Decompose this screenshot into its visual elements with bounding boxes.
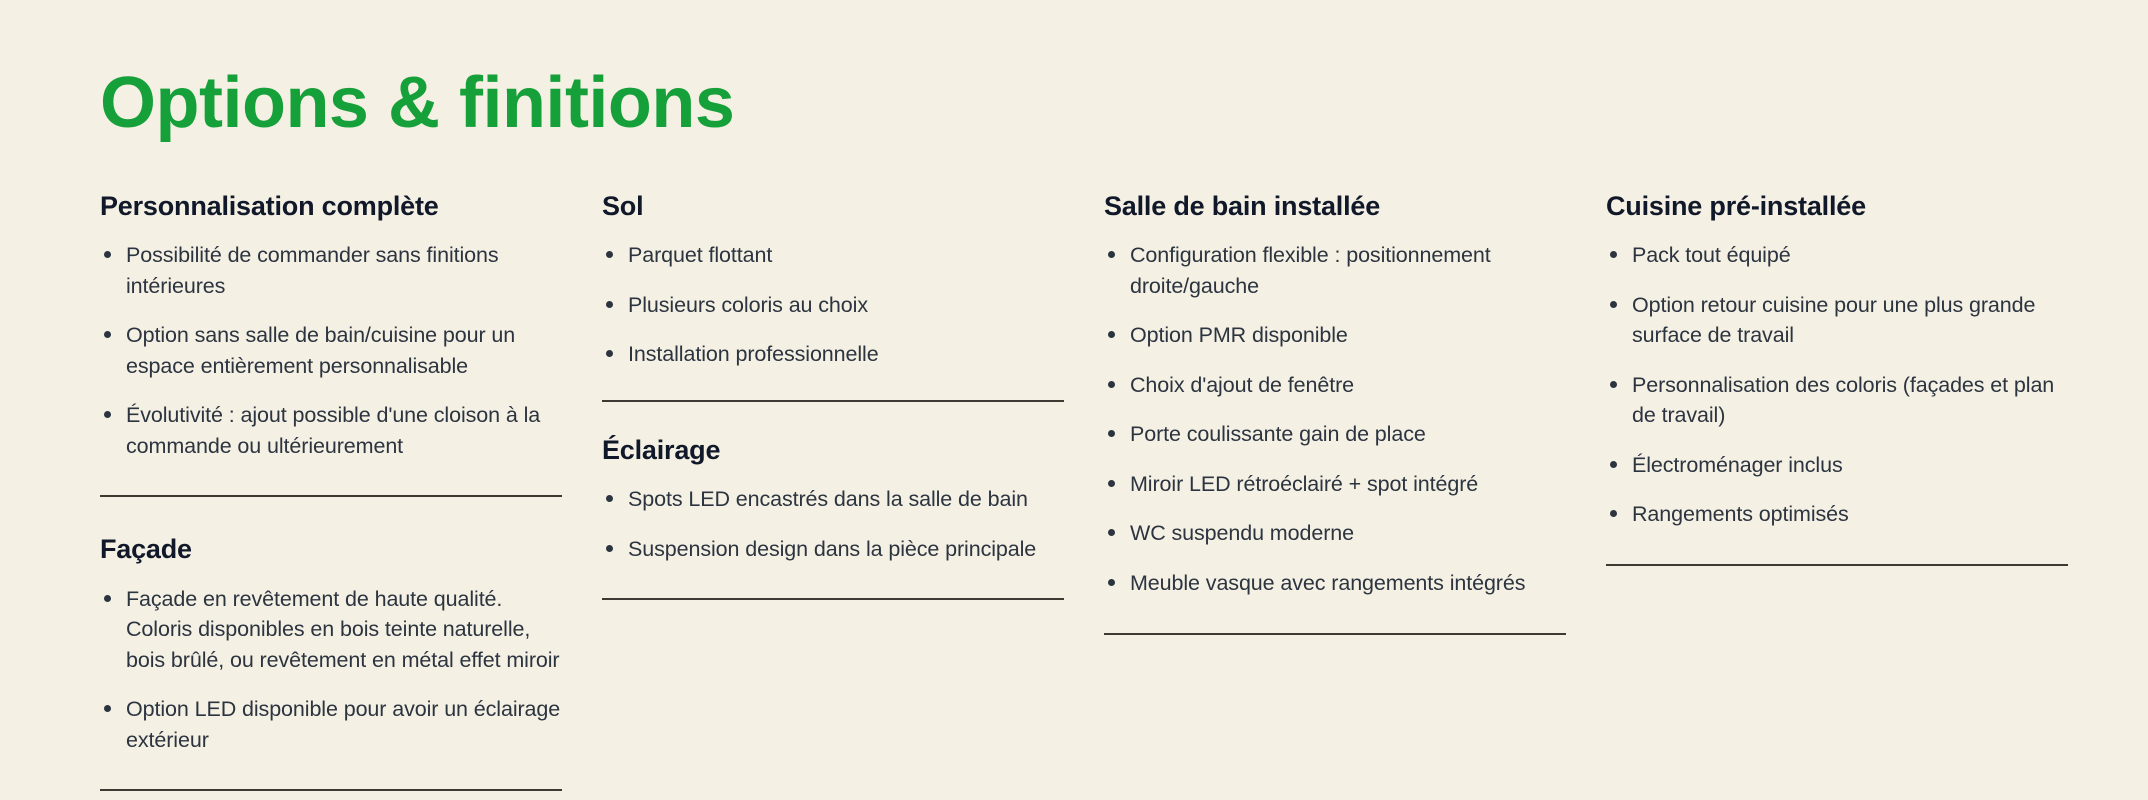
list-item: Choix d'ajout de fenêtre <box>1104 370 1566 401</box>
options-finitions-page: Options & finitions Personnalisation com… <box>0 0 2148 800</box>
bullet-dot-icon <box>1610 510 1617 517</box>
bullet-dot-icon <box>1108 430 1115 437</box>
list-item-label: Option LED disponible pour avoir un écla… <box>126 697 560 752</box>
bullet-dot-icon <box>606 251 613 258</box>
bullet-dot-icon <box>1108 381 1115 388</box>
list-item-label: Spots LED encastrés dans la salle de bai… <box>628 487 1028 511</box>
section-title-eclairage: Éclairage <box>602 434 1064 466</box>
list-item: Façade en revêtement de haute qualité. C… <box>100 584 562 676</box>
list-item-label: Façade en revêtement de haute qualité. C… <box>126 587 559 672</box>
list-item: Évolutivité : ajout possible d'une clois… <box>100 400 562 461</box>
page-title: Options & finitions <box>100 66 734 142</box>
list-item: Configuration flexible : positionnement … <box>1104 240 1566 301</box>
bullet-dot-icon <box>1610 251 1617 258</box>
bullet-dot-icon <box>606 545 613 552</box>
list-item: Porte coulissante gain de place <box>1104 419 1566 450</box>
list-item: Plusieurs coloris au choix <box>602 290 1064 321</box>
section-cuisine-pre-installee: Cuisine pré-installée Pack tout équipé O… <box>1606 190 2068 566</box>
list-item-label: Possibilité de commander sans finitions … <box>126 243 499 298</box>
list-item: Option LED disponible pour avoir un écla… <box>100 694 562 755</box>
bullet-dot-icon <box>1108 579 1115 586</box>
section-title-personnalisation-complete: Personnalisation complète <box>100 190 562 222</box>
list-item-label: Meuble vasque avec rangements intégrés <box>1130 571 1525 595</box>
bullet-list-facade: Façade en revêtement de haute qualité. C… <box>100 584 562 756</box>
list-item-label: Pack tout équipé <box>1632 243 1791 267</box>
section-personnalisation-complete: Personnalisation complète Possibilité de… <box>100 190 562 497</box>
list-item-label: Électroménager inclus <box>1632 453 1843 477</box>
section-divider <box>100 495 562 497</box>
column-sol-eclairage: Sol Parquet flottant Plusieurs coloris a… <box>602 190 1064 600</box>
bullet-dot-icon <box>104 411 111 418</box>
list-item: Miroir LED rétroéclairé + spot intégré <box>1104 469 1566 500</box>
column-cuisine: Cuisine pré-installée Pack tout équipé O… <box>1606 190 2068 566</box>
section-title-cuisine-pre-installee: Cuisine pré-installée <box>1606 190 2068 222</box>
bullet-list-salle-de-bain: Configuration flexible : positionnement … <box>1104 240 1566 598</box>
bullet-dot-icon <box>104 331 111 338</box>
bullet-dot-icon <box>606 495 613 502</box>
list-item: Possibilité de commander sans finitions … <box>100 240 562 301</box>
section-title-salle-de-bain-installee: Salle de bain installée <box>1104 190 1566 222</box>
list-item-label: Suspension design dans la pièce principa… <box>628 537 1036 561</box>
section-divider <box>1104 633 1566 635</box>
list-item-label: Option sans salle de bain/cuisine pour u… <box>126 323 515 378</box>
list-item-label: Configuration flexible : positionnement … <box>1130 243 1491 298</box>
list-item-label: Option retour cuisine pour une plus gran… <box>1632 293 2035 348</box>
bullet-dot-icon <box>104 595 111 602</box>
list-item: Meuble vasque avec rangements intégrés <box>1104 568 1566 599</box>
list-item-label: Choix d'ajout de fenêtre <box>1130 373 1354 397</box>
list-item-label: Installation professionnelle <box>628 342 879 366</box>
section-divider <box>1606 564 2068 566</box>
section-sol: Sol Parquet flottant Plusieurs coloris a… <box>602 190 1064 402</box>
list-item-label: Porte coulissante gain de place <box>1130 422 1426 446</box>
list-item-label: Miroir LED rétroéclairé + spot intégré <box>1130 472 1478 496</box>
bullet-dot-icon <box>606 350 613 357</box>
section-salle-de-bain-installee: Salle de bain installée Configuration fl… <box>1104 190 1566 635</box>
list-item: Parquet flottant <box>602 240 1064 271</box>
list-item: Spots LED encastrés dans la salle de bai… <box>602 484 1064 515</box>
section-divider <box>602 400 1064 402</box>
bullet-dot-icon <box>1108 251 1115 258</box>
list-item-label: Évolutivité : ajout possible d'une clois… <box>126 403 540 458</box>
list-item: Rangements optimisés <box>1606 499 2068 530</box>
section-title-sol: Sol <box>602 190 1064 222</box>
options-columns: Personnalisation complète Possibilité de… <box>100 190 2068 791</box>
bullet-list-sol: Parquet flottant Plusieurs coloris au ch… <box>602 240 1064 370</box>
section-title-facade: Façade <box>100 533 562 565</box>
section-eclairage: Éclairage Spots LED encastrés dans la sa… <box>602 434 1064 600</box>
column-salle-de-bain: Salle de bain installée Configuration fl… <box>1104 190 1566 635</box>
list-item: Option retour cuisine pour une plus gran… <box>1606 290 2068 351</box>
list-item-label: Personnalisation des coloris (façades et… <box>1632 373 2054 428</box>
section-facade: Façade Façade en revêtement de haute qua… <box>100 533 562 791</box>
list-item-label: Option PMR disponible <box>1130 323 1348 347</box>
list-item: Option sans salle de bain/cuisine pour u… <box>100 320 562 381</box>
bullet-list-personnalisation-complete: Possibilité de commander sans finitions … <box>100 240 562 461</box>
section-divider <box>100 789 562 791</box>
bullet-dot-icon <box>1108 529 1115 536</box>
list-item: Suspension design dans la pièce principa… <box>602 534 1064 565</box>
list-item: Option PMR disponible <box>1104 320 1566 351</box>
list-item-label: Rangements optimisés <box>1632 502 1849 526</box>
column-personnalisation-facade: Personnalisation complète Possibilité de… <box>100 190 562 791</box>
bullet-dot-icon <box>1108 480 1115 487</box>
bullet-dot-icon <box>1610 461 1617 468</box>
bullet-list-cuisine: Pack tout équipé Option retour cuisine p… <box>1606 240 2068 530</box>
list-item-label: WC suspendu moderne <box>1130 521 1354 545</box>
bullet-list-eclairage: Spots LED encastrés dans la salle de bai… <box>602 484 1064 564</box>
list-item: Personnalisation des coloris (façades et… <box>1606 370 2068 431</box>
list-item: Pack tout équipé <box>1606 240 2068 271</box>
bullet-dot-icon <box>1108 331 1115 338</box>
list-item: Électroménager inclus <box>1606 450 2068 481</box>
list-item-label: Parquet flottant <box>628 243 772 267</box>
bullet-dot-icon <box>606 301 613 308</box>
list-item-label: Plusieurs coloris au choix <box>628 293 868 317</box>
bullet-dot-icon <box>104 251 111 258</box>
bullet-dot-icon <box>1610 301 1617 308</box>
list-item: Installation professionnelle <box>602 339 1064 370</box>
bullet-dot-icon <box>1610 381 1617 388</box>
bullet-dot-icon <box>104 705 111 712</box>
section-divider <box>602 598 1064 600</box>
list-item: WC suspendu moderne <box>1104 518 1566 549</box>
